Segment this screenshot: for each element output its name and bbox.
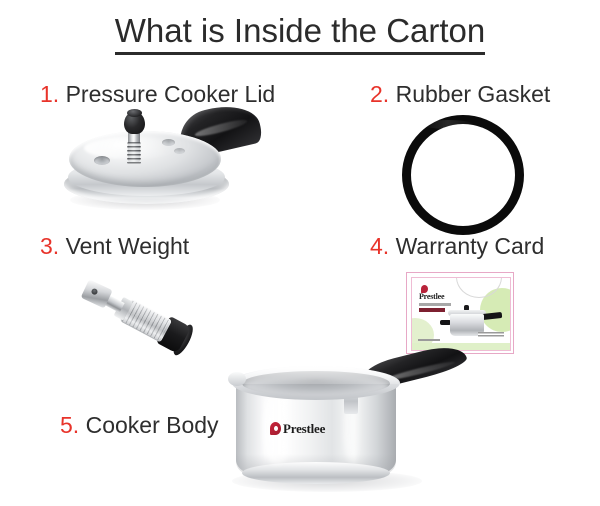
- vent-weight-image: [72, 272, 202, 344]
- brand-name-text: Prestlee: [283, 422, 325, 435]
- page-title-text: What is Inside the Carton: [115, 14, 486, 55]
- item-number-1: 1.: [40, 81, 59, 107]
- vent-weight-assembly: [66, 260, 215, 385]
- item-label-4: 4. Warranty Card: [370, 234, 544, 259]
- infographic-page: What is Inside the Carton 1. Pressure Co…: [0, 0, 600, 506]
- lid-vent-stem-threads: [127, 142, 141, 164]
- warranty-card-face: Prestlee: [411, 277, 511, 351]
- gasket-ring: [402, 115, 524, 235]
- pressure-cooker-lid-image: [58, 112, 263, 217]
- cooker-body-base: [242, 462, 390, 484]
- item-number-2: 2.: [370, 81, 389, 107]
- item-number-3: 3.: [40, 233, 59, 259]
- gasket-highlight: [422, 120, 474, 129]
- rubber-gasket-image: [400, 113, 516, 225]
- warranty-card-image: Prestlee: [406, 272, 514, 354]
- item-label-5: 5. Cooker Body: [60, 413, 219, 438]
- item-name-5: Cooker Body: [86, 412, 219, 438]
- item-name-3: Vent Weight: [66, 233, 190, 259]
- lid-vent-knob-cap: [127, 109, 142, 117]
- item-name-1: Pressure Cooker Lid: [66, 81, 276, 107]
- card-footer-text-block: [478, 332, 504, 338]
- lid-screw-hole: [162, 139, 175, 146]
- page-title: What is Inside the Carton: [0, 12, 600, 55]
- warranty-card-border: Prestlee: [406, 272, 514, 354]
- lid-screw-hole: [94, 156, 110, 165]
- item-label-1: 1. Pressure Cooker Lid: [40, 82, 275, 107]
- item-number-5: 5.: [60, 412, 79, 438]
- item-label-3: 3. Vent Weight: [40, 234, 189, 259]
- item-name-2: Rubber Gasket: [396, 81, 551, 107]
- card-subtitle-line: [419, 303, 451, 306]
- item-label-2: 2. Rubber Gasket: [370, 82, 550, 107]
- lid-screw-hole: [174, 148, 185, 154]
- cooker-body-spout: [228, 372, 246, 386]
- brand-droplet-icon: [270, 422, 281, 435]
- item-name-4: Warranty Card: [396, 233, 545, 259]
- item-number-4: 4.: [370, 233, 389, 259]
- card-footer-text-line: [418, 339, 440, 342]
- card-subtitle-block: [419, 308, 445, 312]
- card-brand-text: Prestlee: [419, 292, 444, 301]
- cooker-body-brand-logo: Prestlee: [270, 422, 325, 435]
- cooker-body-image: Prestlee: [218, 358, 488, 496]
